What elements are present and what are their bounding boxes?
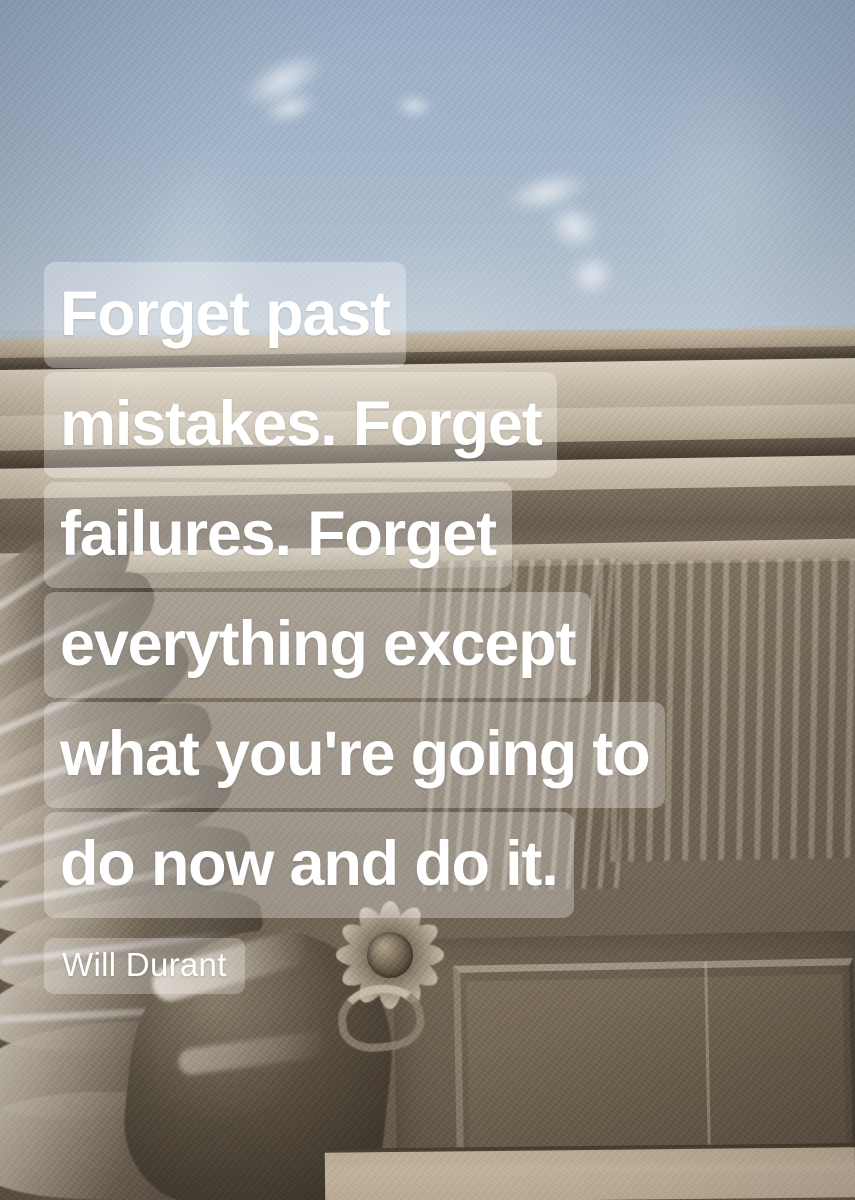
bottom-light-strip (325, 1147, 855, 1200)
quote-author: Will Durant (44, 938, 245, 994)
quote-line-2: mistakes. Forget (44, 372, 557, 478)
quote-line-4: everything except (44, 592, 591, 698)
quote-line-6: do now and do it. (44, 812, 574, 918)
quote-block: Forget past mistakes. Forget failures. F… (44, 262, 821, 994)
quote-line-3: failures. Forget (44, 482, 512, 588)
quote-line-5: what you're going to (44, 702, 665, 808)
quote-line-1: Forget past (44, 262, 406, 368)
quote-card: Forget past mistakes. Forget failures. F… (0, 0, 855, 1200)
